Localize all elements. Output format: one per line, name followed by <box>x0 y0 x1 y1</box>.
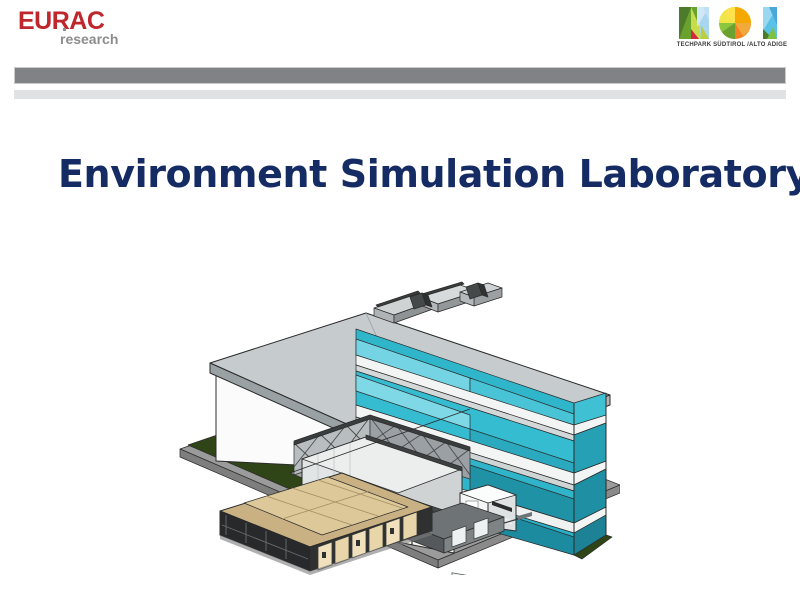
eurac-research-logo: EURAC research <box>18 9 168 55</box>
header-divider-thin <box>14 90 786 99</box>
page-title: Environment Simulation Laboratory <box>58 151 758 199</box>
header-divider-thick <box>14 67 786 84</box>
noi-techpark-caption: TECHPARK SÜDTIROL /ALTO ADIGE <box>673 42 791 48</box>
slide-canvas: EURAC research <box>0 0 800 593</box>
environment-simulation-laboratory-3d-render: .ol { stroke:#2b2b2b; stroke-width:1; st… <box>170 235 620 575</box>
noi-techpark-logo: TECHPARK SÜDTIROL /ALTO ADIGE <box>673 5 791 55</box>
eurac-subtitle: research <box>60 32 118 46</box>
noi-letters-icon <box>677 5 787 41</box>
